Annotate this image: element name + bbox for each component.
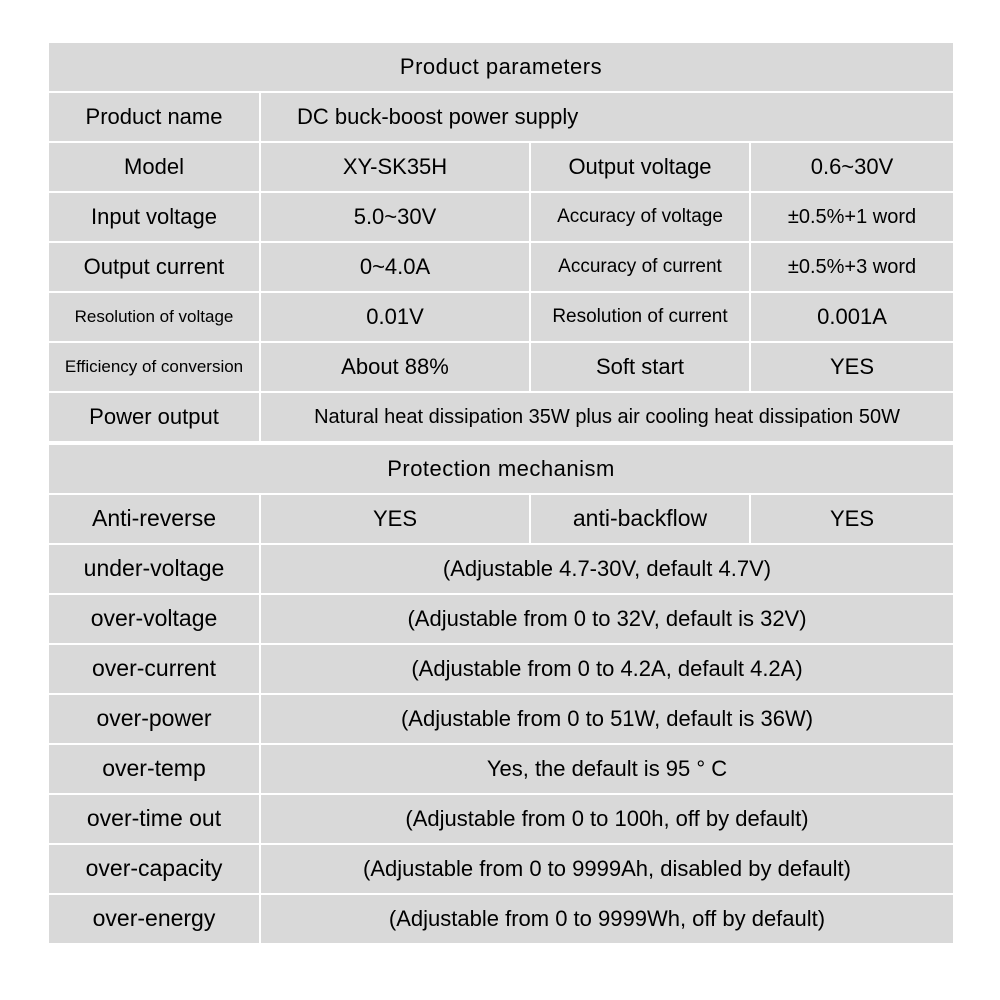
row-value-output-current: 0~4.0A <box>260 242 530 292</box>
table-row: over-current (Adjustable from 0 to 4.2A,… <box>48 644 954 694</box>
row-label-over-energy: over-energy <box>48 894 260 944</box>
row-value-power-output: Natural heat dissipation 35W plus air co… <box>260 392 954 442</box>
row-label-efficiency-of-conversion: Efficiency of conversion <box>48 342 260 392</box>
row-value-over-energy: (Adjustable from 0 to 9999Wh, off by def… <box>260 894 954 944</box>
protection-mechanism-table: Protection mechanism Anti-reverse YES an… <box>47 443 955 945</box>
row-value-over-voltage: (Adjustable from 0 to 32V, default is 32… <box>260 594 954 644</box>
row-value-over-capacity: (Adjustable from 0 to 9999Ah, disabled b… <box>260 844 954 894</box>
row-value-model: XY-SK35H <box>260 142 530 192</box>
row-label-resolution-of-current: Resolution of current <box>530 292 750 342</box>
table-row: over-energy (Adjustable from 0 to 9999Wh… <box>48 894 954 944</box>
table-row: under-voltage (Adjustable 4.7-30V, defau… <box>48 544 954 594</box>
row-label-accuracy-of-voltage: Accuracy of voltage <box>530 192 750 242</box>
row-label-over-temp: over-temp <box>48 744 260 794</box>
table-row: over-capacity (Adjustable from 0 to 9999… <box>48 844 954 894</box>
row-value-anti-reverse: YES <box>260 494 530 544</box>
table-header-row: Protection mechanism <box>48 444 954 494</box>
row-label-output-voltage: Output voltage <box>530 142 750 192</box>
spec-sheet: Product parameters Product name DC buck-… <box>47 41 953 959</box>
row-value-anti-backflow: YES <box>750 494 954 544</box>
row-label-over-time-out: over-time out <box>48 794 260 844</box>
table-row: Output current 0~4.0A Accuracy of curren… <box>48 242 954 292</box>
section-title-product-parameters: Product parameters <box>48 42 954 92</box>
row-value-output-voltage: 0.6~30V <box>750 142 954 192</box>
row-label-anti-backflow: anti-backflow <box>530 494 750 544</box>
row-label-over-capacity: over-capacity <box>48 844 260 894</box>
row-value-soft-start: YES <box>750 342 954 392</box>
table-row: Resolution of voltage 0.01V Resolution o… <box>48 292 954 342</box>
row-value-accuracy-of-current: ±0.5%+3 word <box>750 242 954 292</box>
row-value-input-voltage: 5.0~30V <box>260 192 530 242</box>
product-parameters-table: Product parameters Product name DC buck-… <box>47 41 955 443</box>
row-value-over-temp: Yes, the default is 95 ° C <box>260 744 954 794</box>
table-row: Power output Natural heat dissipation 35… <box>48 392 954 442</box>
table-row: over-temp Yes, the default is 95 ° C <box>48 744 954 794</box>
row-value-accuracy-of-voltage: ±0.5%+1 word <box>750 192 954 242</box>
table-row: Anti-reverse YES anti-backflow YES <box>48 494 954 544</box>
table-row: Efficiency of conversion About 88% Soft … <box>48 342 954 392</box>
row-label-under-voltage: under-voltage <box>48 544 260 594</box>
row-label-power-output: Power output <box>48 392 260 442</box>
row-value-product-name: DC buck-boost power supply <box>260 92 954 142</box>
row-label-over-power: over-power <box>48 694 260 744</box>
table-row: Product name DC buck-boost power supply <box>48 92 954 142</box>
row-label-accuracy-of-current: Accuracy of current <box>530 242 750 292</box>
row-value-over-time-out: (Adjustable from 0 to 100h, off by defau… <box>260 794 954 844</box>
table-row: over-voltage (Adjustable from 0 to 32V, … <box>48 594 954 644</box>
row-label-anti-reverse: Anti-reverse <box>48 494 260 544</box>
row-value-resolution-of-current: 0.001A <box>750 292 954 342</box>
row-label-input-voltage: Input voltage <box>48 192 260 242</box>
row-value-under-voltage: (Adjustable 4.7-30V, default 4.7V) <box>260 544 954 594</box>
row-label-over-voltage: over-voltage <box>48 594 260 644</box>
row-label-output-current: Output current <box>48 242 260 292</box>
table-header-row: Product parameters <box>48 42 954 92</box>
row-label-over-current: over-current <box>48 644 260 694</box>
table-row: over-time out (Adjustable from 0 to 100h… <box>48 794 954 844</box>
table-row: over-power (Adjustable from 0 to 51W, de… <box>48 694 954 744</box>
row-label-model: Model <box>48 142 260 192</box>
row-label-product-name: Product name <box>48 92 260 142</box>
row-label-resolution-of-voltage: Resolution of voltage <box>48 292 260 342</box>
row-label-soft-start: Soft start <box>530 342 750 392</box>
section-title-protection-mechanism: Protection mechanism <box>48 444 954 494</box>
row-value-over-power: (Adjustable from 0 to 51W, default is 36… <box>260 694 954 744</box>
table-row: Input voltage 5.0~30V Accuracy of voltag… <box>48 192 954 242</box>
table-row: Model XY-SK35H Output voltage 0.6~30V <box>48 142 954 192</box>
row-value-resolution-of-voltage: 0.01V <box>260 292 530 342</box>
row-value-over-current: (Adjustable from 0 to 4.2A, default 4.2A… <box>260 644 954 694</box>
row-value-efficiency-of-conversion: About 88% <box>260 342 530 392</box>
